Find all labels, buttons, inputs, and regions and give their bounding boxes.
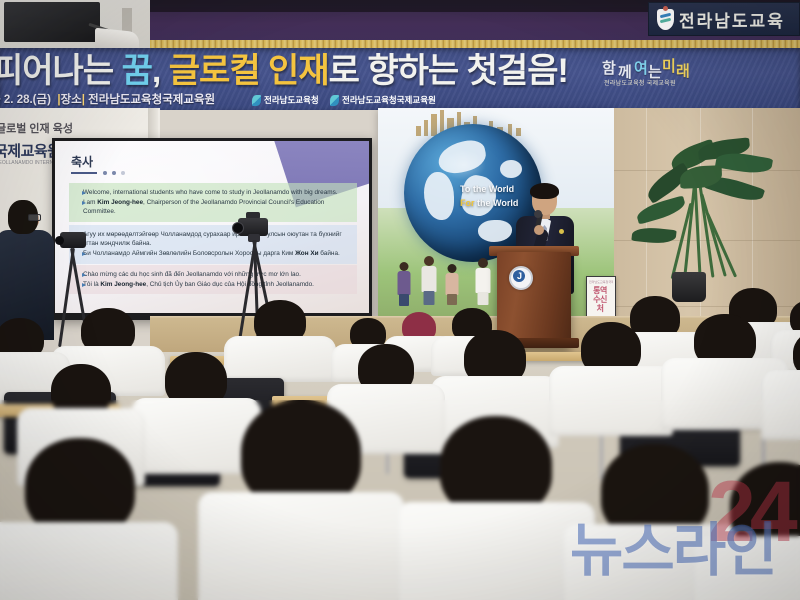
slide-dot-3 bbox=[121, 171, 125, 175]
slide-block-english: Welcome, international students who have… bbox=[69, 183, 357, 222]
interpretation-sign-header: 전라남도교육청국제교육원 bbox=[589, 280, 613, 284]
slide-vi-line-2-post: , Chủ tịch Ủy ban Giáo dục của Hội đồng … bbox=[146, 281, 314, 288]
watermark-brand: 뉴스라인 bbox=[570, 520, 775, 582]
headline-accent-glocal: 글로컬 인재 bbox=[169, 52, 329, 90]
bullet-icon-en-1 bbox=[82, 191, 86, 195]
together-future-logo: 함 께 여 는 미 래 전라남도교육청 국제교육원 bbox=[600, 54, 692, 98]
slide-en-line-1: Welcome, international students who have… bbox=[83, 189, 338, 196]
logo-char-5: 미 bbox=[662, 58, 676, 76]
jeollanamdo-shield-icon bbox=[657, 9, 674, 30]
watermark: 24 뉴스라인 bbox=[560, 470, 800, 595]
bullet-icon-vi-1 bbox=[82, 273, 86, 277]
audience-member bbox=[548, 322, 674, 428]
slide-title-rule bbox=[71, 172, 97, 174]
org-logo-chip-province: 전라남도교육청 bbox=[252, 93, 319, 108]
audience-member-foreground bbox=[196, 400, 406, 600]
leaf-icon bbox=[252, 95, 261, 106]
second-camera-lens-icon bbox=[55, 236, 64, 245]
poster-slogan-for: For bbox=[460, 198, 475, 208]
photo-scene: 전라남도교육 피어나는 꿈, 글로컬 인재로 향하는 첫걸음! ~ 2. 28.… bbox=[0, 0, 800, 600]
bullet-icon-mn-2 bbox=[82, 252, 86, 256]
audience-member-foreground bbox=[0, 438, 180, 600]
org-chip-1-label: 전라남도교육청 bbox=[264, 93, 319, 108]
slide-mn-line-1: Агуу их мөрөөдөлтэйгөөр Чолланамдод сура… bbox=[83, 231, 342, 247]
headline-seg-1: 피어나는 bbox=[0, 52, 122, 90]
banner-headline: 피어나는 꿈, 글로컬 인재로 향하는 첫걸음! bbox=[0, 50, 612, 92]
continent-shape-5 bbox=[500, 160, 522, 178]
continent-shape-2 bbox=[424, 172, 454, 220]
bullet-icon-vi-2 bbox=[82, 283, 86, 287]
headline-seg-3: 로 향하는 bbox=[329, 52, 467, 90]
projector-vent-panel bbox=[4, 2, 100, 42]
slide-block-mongolian: Агуу их мөрөөдөлтэйгөөр Чолланамдод сура… bbox=[69, 225, 357, 264]
logo-char-3: 여 bbox=[634, 60, 648, 78]
logo-char-6: 래 bbox=[676, 63, 690, 81]
headline-seg-2: , bbox=[152, 52, 169, 90]
slide-vi-line-1: Chào mừng các du học sinh đã đến Jeollan… bbox=[83, 271, 301, 278]
poster-slogan-line-1: To the World bbox=[460, 184, 514, 194]
org-logo-chip-institute: 전라남도교육청국제교육원 bbox=[330, 93, 436, 108]
slide-title: 축사 bbox=[71, 153, 93, 170]
speaker-hair bbox=[530, 183, 559, 199]
emblem-letter: J bbox=[517, 271, 522, 281]
slide-vi-speaker-name: Kim Jeong-hee bbox=[100, 281, 146, 288]
slide-mn-line-2-post: байна. bbox=[319, 250, 340, 257]
slide-dot-1 bbox=[103, 171, 107, 175]
poster-child-4 bbox=[474, 258, 492, 306]
venue-name-sign: 전라남도교육 bbox=[648, 2, 800, 36]
poster-child-3 bbox=[444, 264, 460, 306]
slide-en-speaker-name: Kim Jeong-hee bbox=[97, 199, 143, 206]
audience-member bbox=[760, 330, 800, 434]
banner-place-value: 전라남도교육청국제교육원 bbox=[88, 94, 215, 106]
poster-child-2 bbox=[420, 256, 438, 306]
together-logo-subtitle: 전라남도교육청 국제교육원 bbox=[604, 78, 676, 87]
headline-seg-4: ! bbox=[557, 52, 567, 90]
logo-char-1: 함 bbox=[602, 60, 616, 78]
plant-leaf bbox=[715, 149, 773, 176]
eyeglasses-icon bbox=[28, 214, 41, 221]
bullet-icon-en-2 bbox=[82, 201, 86, 205]
slide-block-vietnamese: Chào mừng các du học sinh đã đến Jeollan… bbox=[69, 265, 357, 294]
headline-accent-dream: 꿈 bbox=[122, 52, 152, 90]
banner-date: ~ 2. 28.(금) bbox=[0, 94, 51, 106]
venue-sign-label: 전라남도교육 bbox=[679, 7, 785, 32]
slide-mn-speaker-name: Жон Хи bbox=[295, 250, 318, 257]
speaker-hand bbox=[534, 225, 544, 235]
projection-screen: 축사 Welcome, international students who h… bbox=[55, 141, 369, 313]
leaf-icon-2 bbox=[330, 95, 339, 106]
slide-dot-2 bbox=[112, 171, 116, 175]
slide-mn-line-2-pre: Би Чолланамдо Аймгийн Зөвлөлийн Боловсро… bbox=[83, 250, 295, 257]
lapel-badge bbox=[559, 229, 564, 234]
headline-accent-firststep: 첫걸음 bbox=[467, 52, 558, 90]
microphone-head-icon bbox=[534, 210, 542, 218]
poster-child-1 bbox=[396, 262, 412, 306]
org-chip-2-label: 전라남도교육청국제교육원 bbox=[342, 93, 436, 108]
wall-text-top: 글로벌 인재 육성 bbox=[0, 120, 116, 136]
banner-place-label: 장소 bbox=[61, 94, 82, 106]
continent-shape-4 bbox=[478, 220, 512, 242]
globe-highlight bbox=[442, 150, 486, 180]
